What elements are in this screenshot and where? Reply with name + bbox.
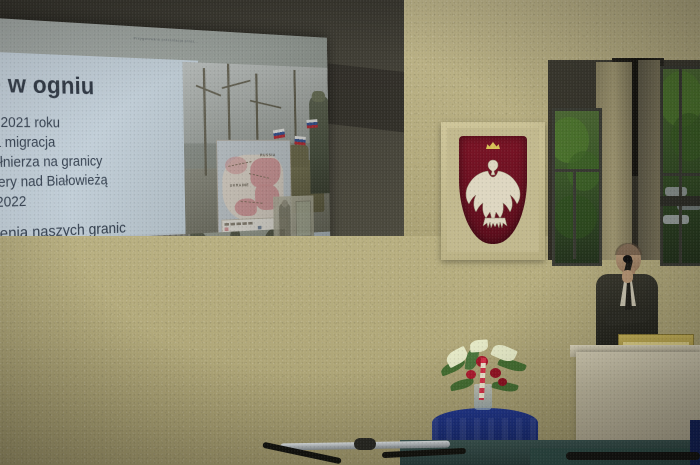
white-eagle-icon [463,152,523,234]
crown-icon [486,142,500,149]
speaker-hair [615,243,642,255]
photo-window [296,201,312,237]
map-label-russia: RUSSIA [260,153,276,157]
parked-car [665,187,687,196]
ribbon [479,358,486,400]
wall-pillar [638,60,660,260]
window-mullion [679,69,682,263]
carnation [498,378,507,386]
window-mullion [555,169,599,172]
photo-person-figure [279,203,291,238]
foreground-chair [566,452,700,465]
lily-flower [470,339,489,352]
tree-foliage [671,113,700,161]
window-right [660,66,700,266]
legend-swatch [258,226,262,230]
foreground-chair [262,436,462,465]
map-label-ukraine: UKRAINE [230,183,249,188]
slide-bullet: ydowa od 2021 roku [0,113,201,133]
coat-of-arms-mount [447,128,539,252]
photo-flag [294,136,305,146]
microphone-head [623,255,632,263]
slide-bullet: nielegalna migracja [0,134,201,154]
legend-title-line [225,222,255,226]
speaker-hand [622,270,633,283]
flower-bouquet [436,336,532,398]
legend-swatch [225,227,229,231]
chair-frame [382,448,466,458]
chair-backrest [566,452,700,460]
window-mullion [573,169,576,259]
photo-flag [306,119,317,128]
slide-bullet-list: ydowa od 2021 roku nielegalna migracja l… [0,113,202,216]
carnation [490,368,501,378]
window-ledge [660,196,700,206]
coat-of-arms-frame [441,122,545,260]
carnation [466,370,476,379]
photo-soldier [309,96,330,194]
chair-knob [354,438,376,450]
photo-helmet [312,91,326,102]
leaf [449,378,474,392]
conference-room-photo: Przygotowana prezentacja przez... dr hab… [0,0,700,465]
window-left [552,108,602,266]
coat-of-arms-shield [459,136,527,244]
parked-car [663,215,689,224]
